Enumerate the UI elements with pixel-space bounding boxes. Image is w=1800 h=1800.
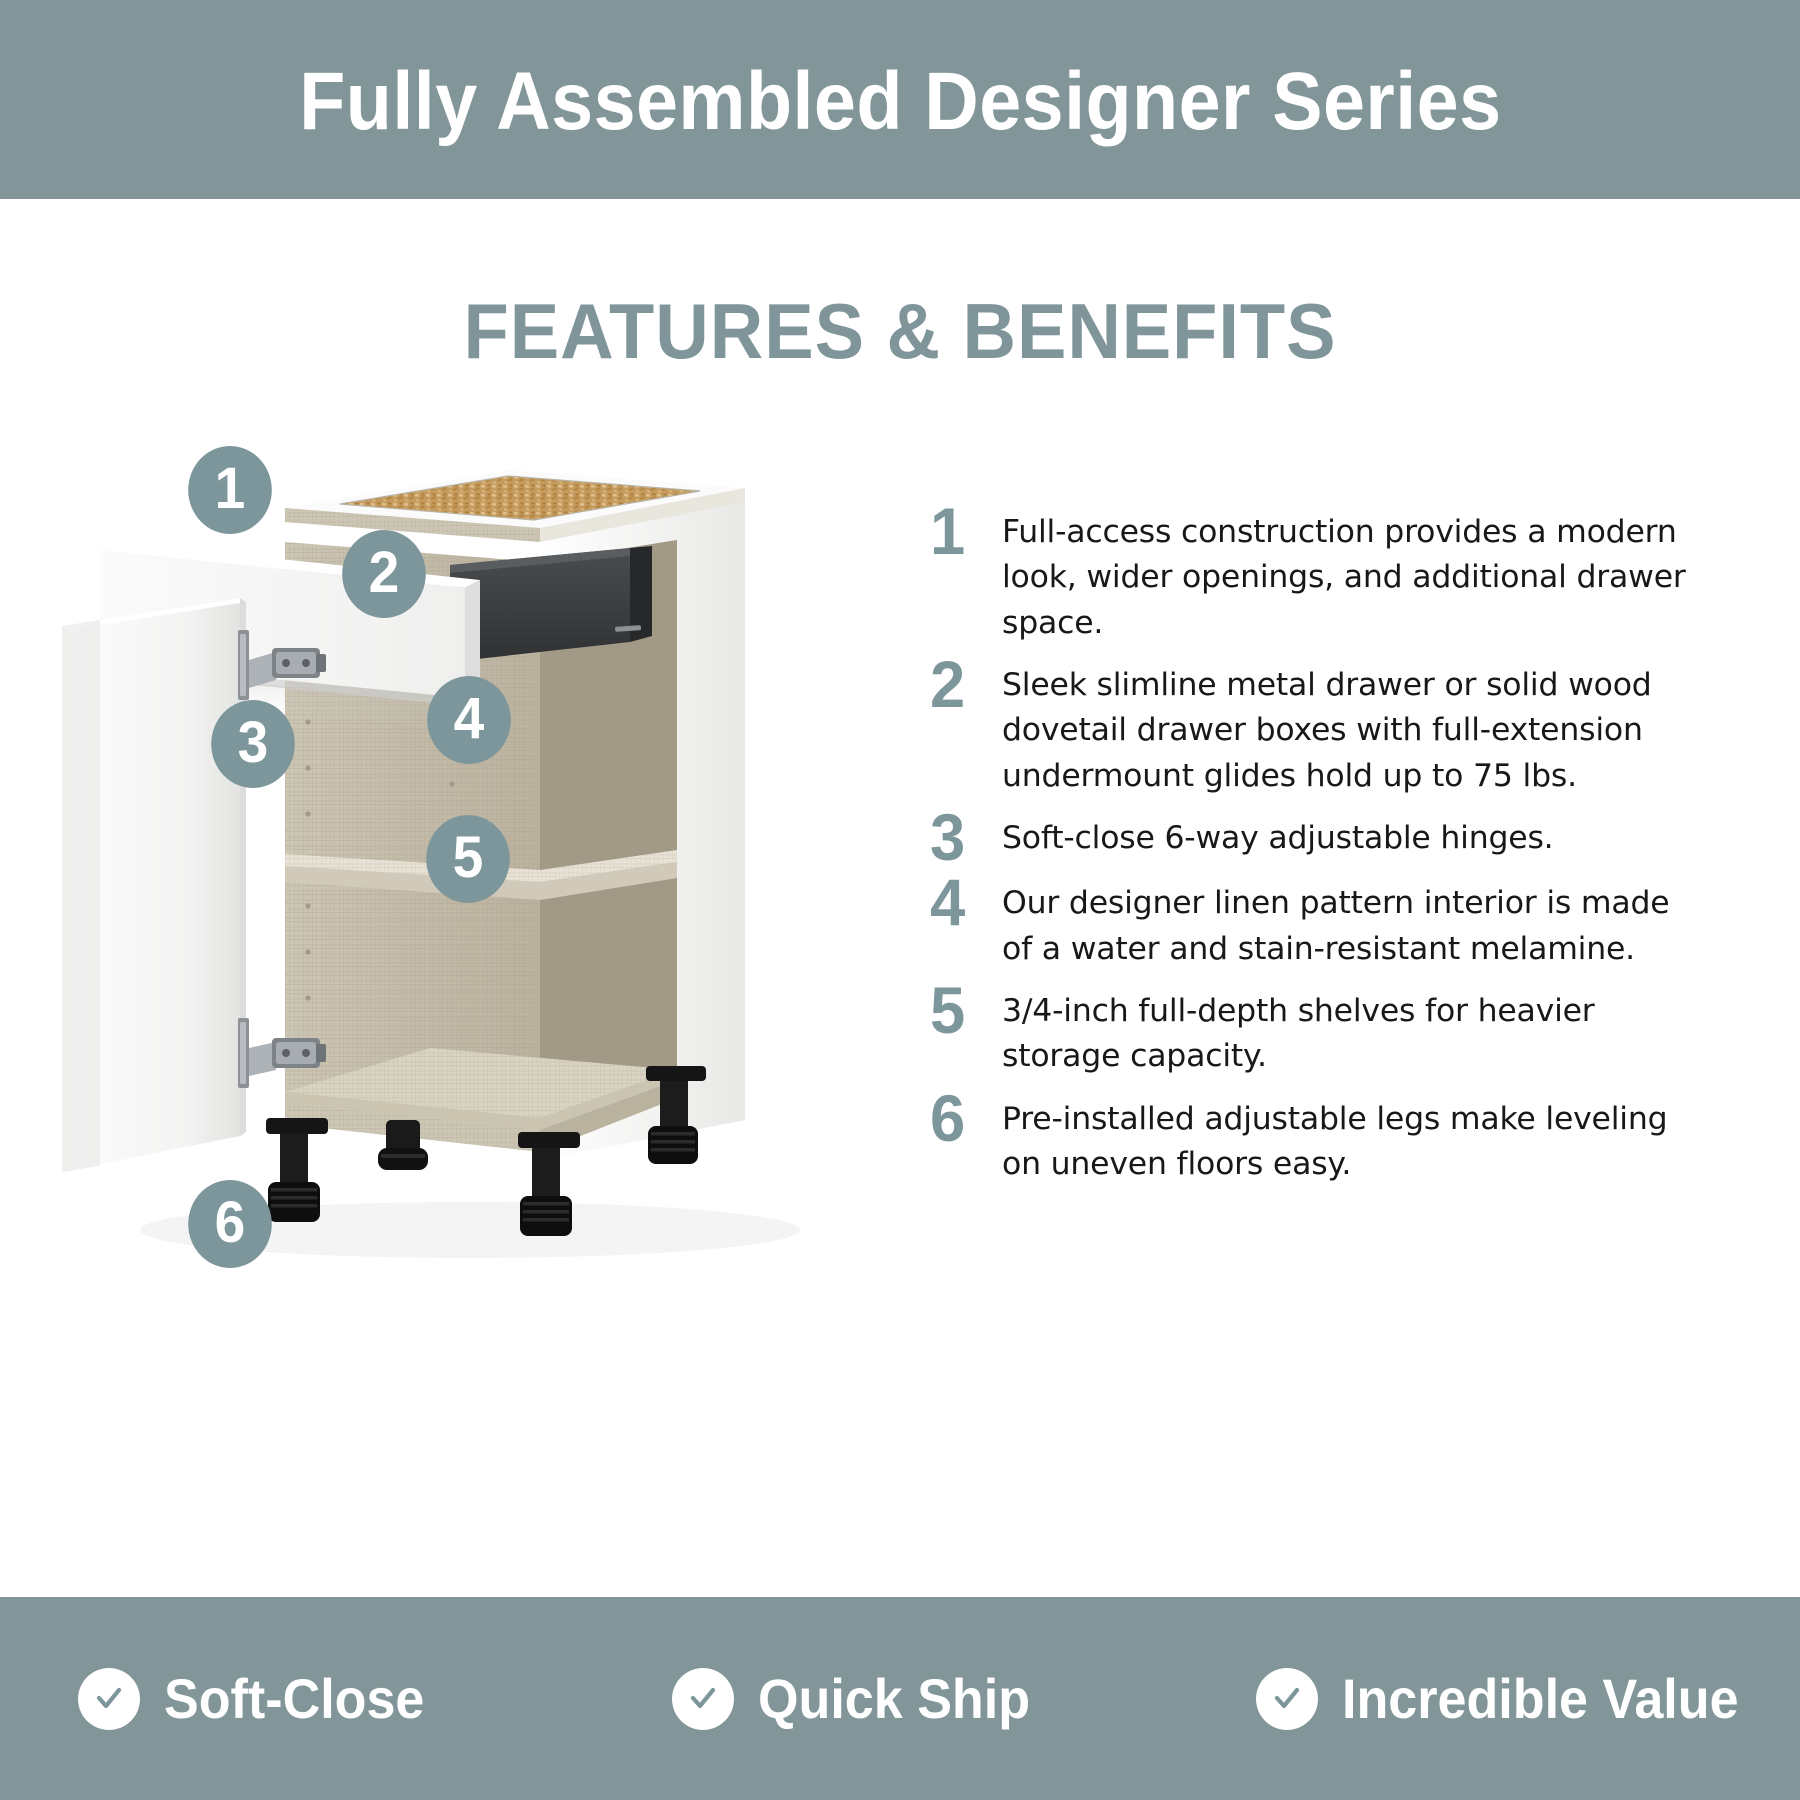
footer-label-soft-close: Soft-Close	[164, 1671, 424, 1727]
feature-number-1: 1	[930, 504, 999, 558]
feature-number-3: 3	[930, 810, 999, 864]
feature-number-2: 2	[930, 657, 999, 711]
footer-band: Soft-Close Quick Ship Incredible Value	[0, 1597, 1800, 1800]
feature-text-2: Sleek slimline metal drawer or solid woo…	[1002, 663, 1700, 799]
callout-3-label: 3	[238, 714, 269, 772]
callout-5: 5	[426, 815, 510, 903]
feature-list: 1 Full-access construction provides a mo…	[930, 510, 1700, 1204]
callout-4: 4	[427, 676, 511, 764]
callout-2-label: 2	[369, 544, 400, 602]
callout-1: 1	[188, 446, 272, 534]
check-circle-icon	[672, 1668, 734, 1730]
callout-3: 3	[211, 700, 295, 788]
footer-badge-soft-close: Soft-Close	[78, 1668, 444, 1730]
check-circle-icon	[1256, 1668, 1318, 1730]
callout-6-label: 6	[215, 1194, 246, 1252]
footer-label-quick-ship: Quick Ship	[758, 1671, 1030, 1727]
callout-2: 2	[342, 530, 426, 618]
callout-1-label: 1	[215, 460, 246, 518]
callout-6: 6	[188, 1180, 272, 1268]
feature-number-5: 5	[930, 983, 999, 1037]
feature-item-1: 1 Full-access construction provides a mo…	[930, 510, 1700, 646]
feature-item-2: 2 Sleek slimline metal drawer or solid w…	[930, 663, 1700, 799]
feature-item-6: 6 Pre-installed adjustable legs make lev…	[930, 1097, 1700, 1188]
footer-badge-incredible-value: Incredible Value	[1256, 1668, 1768, 1730]
page-title: Fully Assembled Designer Series	[299, 61, 1501, 143]
feature-text-5: 3/4-inch full-depth shelves for heavier …	[1002, 989, 1700, 1080]
feature-item-5: 5 3/4-inch full-depth shelves for heavie…	[930, 989, 1700, 1080]
header-band: Fully Assembled Designer Series	[0, 0, 1800, 199]
feature-number-6: 6	[930, 1091, 999, 1145]
callout-4-label: 4	[454, 690, 485, 748]
feature-text-4: Our designer linen pattern interior is m…	[1002, 881, 1700, 972]
footer-badge-quick-ship: Quick Ship	[672, 1668, 1051, 1730]
feature-text-3: Soft-close 6-way adjustable hinges.	[1002, 816, 1700, 861]
check-circle-icon	[78, 1668, 140, 1730]
cabinet-diagram	[40, 430, 870, 1430]
product-illustration	[40, 430, 870, 1430]
feature-number-4: 4	[930, 875, 999, 929]
callout-5-label: 5	[453, 829, 484, 887]
feature-item-4: 4 Our designer linen pattern interior is…	[930, 881, 1700, 972]
feature-item-3: 3 Soft-close 6-way adjustable hinges.	[930, 816, 1700, 864]
section-heading: FEATURES & BENEFITS	[45, 292, 1755, 370]
feature-text-6: Pre-installed adjustable legs make level…	[1002, 1097, 1700, 1188]
feature-text-1: Full-access construction provides a mode…	[1002, 510, 1700, 646]
footer-label-incredible-value: Incredible Value	[1342, 1671, 1739, 1727]
